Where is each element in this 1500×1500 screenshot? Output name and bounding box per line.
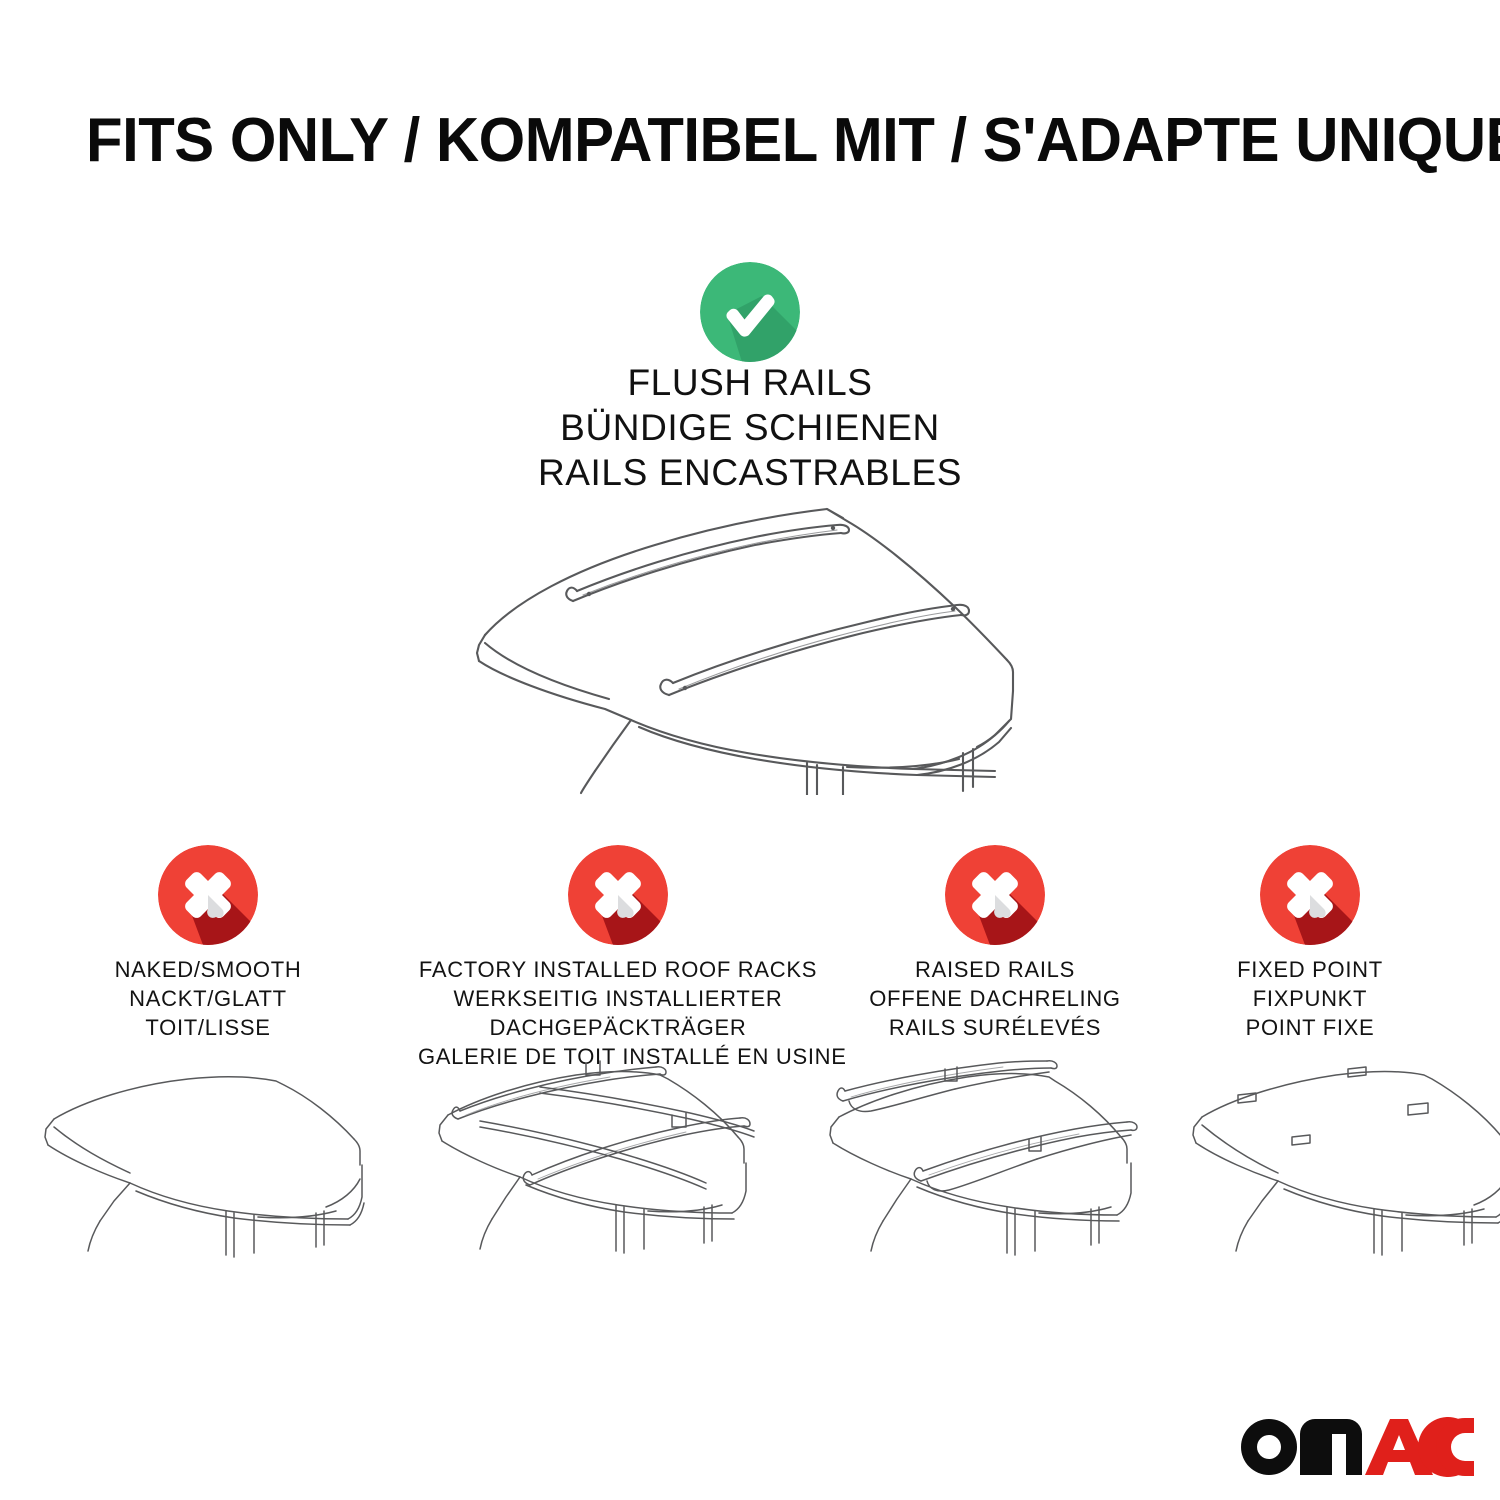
incompatible-labels: NAKED/SMOOTH NACKT/GLATT TOIT/LISSE: [8, 955, 408, 1042]
incompatible-column-factory-racks: FACTORY INSTALLED ROOF RACKS WERKSEITIG …: [418, 845, 818, 1071]
incompatible-label-line: FACTORY INSTALLED ROOF RACKS: [418, 955, 818, 984]
cross-icon: [1260, 845, 1360, 945]
incompatible-label-line: TOIT/LISSE: [8, 1013, 408, 1042]
incompatible-column-naked: NAKED/SMOOTH NACKT/GLATT TOIT/LISSE: [8, 845, 408, 1042]
title-bar: FITS ONLY / KOMPATIBEL MIT / S'ADAPTE UN…: [86, 103, 1426, 179]
cross-icon: [158, 845, 258, 945]
car-roof-factory-racks-illustration: [420, 1055, 760, 1285]
incompatible-label-line: POINT FIXE: [1110, 1013, 1500, 1042]
incompatible-label-line: NACKT/GLATT: [8, 984, 408, 1013]
incompatible-label-line: FIXED POINT: [1110, 955, 1500, 984]
incompatible-label-line: FIXPUNKT: [1110, 984, 1500, 1013]
incompatible-label-line: DACHGEPÄCKTRÄGER: [418, 1013, 818, 1042]
incompatible-label-line: WERKSEITIG INSTALLIERTER: [418, 984, 818, 1013]
cross-icon: [568, 845, 668, 945]
check-icon: [700, 262, 800, 362]
compatible-label-line: BÜNDIGE SCHIENEN: [250, 405, 1250, 450]
incompatible-labels: FACTORY INSTALLED ROOF RACKS WERKSEITIG …: [418, 955, 818, 1071]
car-roof-raised-rails-illustration: [805, 1055, 1145, 1285]
page-title: FITS ONLY / KOMPATIBEL MIT / S'ADAPTE UN…: [86, 110, 1500, 172]
cross-icon: [945, 845, 1045, 945]
car-roof-fixed-point-illustration: [1180, 1055, 1500, 1285]
incompatible-label-line: NAKED/SMOOTH: [8, 955, 408, 984]
omac-logo: [1238, 1412, 1474, 1478]
car-roof-naked-illustration: [38, 1055, 378, 1285]
incompatible-column-fixed-point: FIXED POINT FIXPUNKT POINT FIXE: [1110, 845, 1500, 1042]
incompatible-labels: FIXED POINT FIXPUNKT POINT FIXE: [1110, 955, 1500, 1042]
brand-name: OMAC: [0, 0, 1, 1]
compatible-labels: FLUSH RAILS BÜNDIGE SCHIENEN RAILS ENCAS…: [250, 360, 1250, 495]
compatible-label-line: RAILS ENCASTRABLES: [250, 450, 1250, 495]
car-roof-flush-rails-illustration: [455, 495, 1055, 795]
compatible-label-line: FLUSH RAILS: [250, 360, 1250, 405]
